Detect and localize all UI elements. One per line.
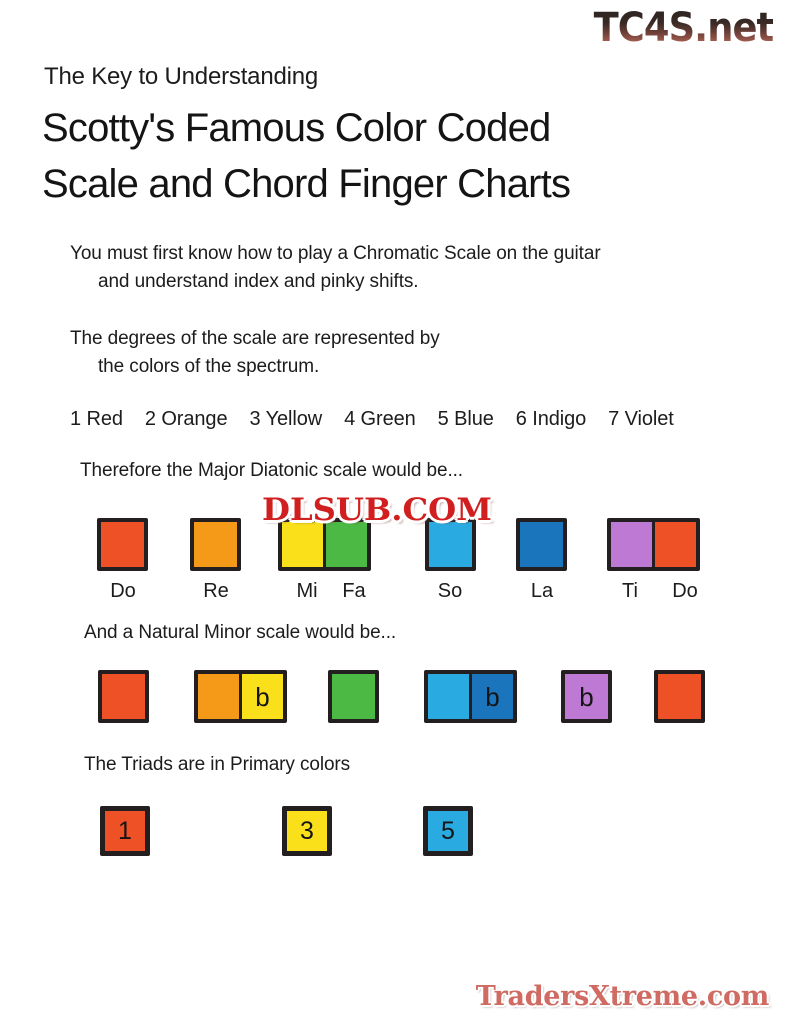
- site-logo: TC4S.net: [593, 8, 773, 48]
- spectrum-legend-entry-7: 7 Violet: [608, 408, 674, 431]
- major-square-cell-1-1: [101, 522, 144, 567]
- major-square-cell-2-1: [194, 522, 237, 567]
- page-kicker: The Key to Understanding: [44, 63, 318, 91]
- spectrum-legend-entry-3: 3 Yellow: [249, 408, 322, 431]
- major-note-label-5: So: [424, 580, 476, 603]
- major-note-label-6: La: [516, 580, 568, 603]
- page-title-line-2: Scale and Chord Finger Charts: [42, 156, 570, 212]
- minor-square-cell-5-1: b: [565, 674, 608, 719]
- minor-square-group-5: b: [561, 670, 612, 723]
- spectrum-legend-entry-6: 6 Indigo: [516, 408, 586, 431]
- major-square-cell-3-1: [282, 522, 323, 567]
- spectrum-legend-entry-5: 5 Blue: [438, 408, 494, 431]
- triad-square-1: 1: [100, 806, 150, 856]
- triad-square-label-5: 5: [428, 811, 468, 851]
- major-square-group-2: [190, 518, 241, 571]
- triad-square-label-3: 3: [287, 811, 327, 851]
- spectrum-legend-entry-2: 2 Orange: [145, 408, 228, 431]
- major-note-label-7: Ti: [604, 580, 656, 603]
- intro-paragraph-1: You must first know how to play a Chroma…: [70, 240, 601, 296]
- minor-square-cell-4-2: b: [472, 674, 513, 719]
- minor-square-cell-1-1: [102, 674, 145, 719]
- page-title-line-1: Scotty's Famous Color Coded: [42, 100, 570, 156]
- minor-scale-caption: And a Natural Minor scale would be...: [84, 622, 396, 644]
- minor-square-cell-2-2: b: [242, 674, 283, 719]
- major-square-cell-3-2: [326, 522, 367, 567]
- spectrum-legend-entry-1: 1 Red: [70, 408, 123, 431]
- page-title: Scotty's Famous Color Coded Scale and Ch…: [42, 100, 570, 212]
- minor-square-group-2: b: [194, 670, 287, 723]
- major-square-cell-6-2: [655, 522, 696, 567]
- major-square-group-1: [97, 518, 148, 571]
- major-note-label-2: Re: [190, 580, 242, 603]
- intro-paragraph-2-line-2: the colors of the spectrum.: [70, 353, 440, 381]
- watermark-dlsub: DLSUB.COM: [262, 492, 492, 528]
- major-square-cell-5-1: [520, 522, 563, 567]
- intro-paragraph-1-line-1: You must first know how to play a Chroma…: [70, 243, 601, 264]
- major-note-label-4: Fa: [328, 580, 380, 603]
- triad-square-label-1: 1: [105, 811, 145, 851]
- minor-square-group-3: [328, 670, 379, 723]
- spectrum-legend: 1 Red2 Orange3 Yellow4 Green5 Blue6 Indi…: [70, 408, 674, 431]
- major-square-group-5: [516, 518, 567, 571]
- spectrum-legend-entry-4: 4 Green: [344, 408, 416, 431]
- major-square-cell-6-1: [611, 522, 652, 567]
- minor-square-group-4: b: [424, 670, 517, 723]
- major-square-group-6: [607, 518, 700, 571]
- minor-square-group-1: [98, 670, 149, 723]
- major-note-label-1: Do: [97, 580, 149, 603]
- triad-caption: The Triads are in Primary colors: [84, 754, 350, 776]
- watermark-tradersxtreme: TradersXtreme.com: [476, 981, 769, 1012]
- intro-paragraph-1-line-2: and understand index and pinky shifts.: [70, 268, 601, 296]
- major-square-cell-4-1: [429, 522, 472, 567]
- triad-square-3: 3: [282, 806, 332, 856]
- major-note-label-3: Mi: [281, 580, 333, 603]
- minor-square-cell-3-1: [332, 674, 375, 719]
- intro-paragraph-2: The degrees of the scale are represented…: [70, 325, 440, 381]
- minor-square-cell-4-1: [428, 674, 469, 719]
- minor-square-group-6: [654, 670, 705, 723]
- triad-square-5: 5: [423, 806, 473, 856]
- intro-paragraph-2-line-1: The degrees of the scale are represented…: [70, 328, 440, 349]
- major-scale-caption: Therefore the Major Diatonic scale would…: [80, 460, 463, 482]
- minor-square-cell-2-1: [198, 674, 239, 719]
- major-note-label-8: Do: [659, 580, 711, 603]
- minor-square-cell-6-1: [658, 674, 701, 719]
